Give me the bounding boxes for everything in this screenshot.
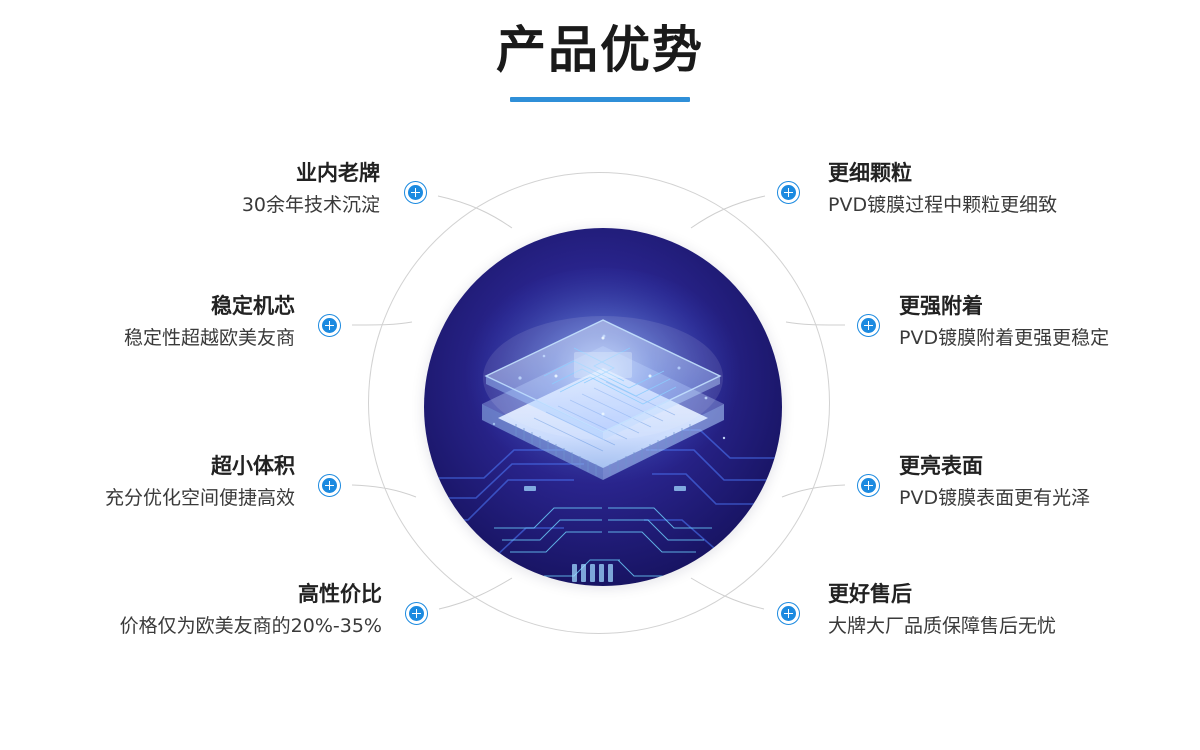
plus-circle-icon-right-1[interactable]	[777, 181, 800, 204]
feature-desc: 充分优化空间便捷高效	[0, 486, 295, 511]
feature-title: 更好售后	[828, 581, 1188, 608]
plus-circle-icon-right-3[interactable]	[857, 474, 880, 497]
page-title-block: 产品优势	[0, 22, 1200, 102]
feature-desc: 30余年技术沉淀	[20, 193, 380, 218]
feature-title: 稳定机芯	[0, 293, 295, 320]
feature-right-3[interactable]: 更亮表面 PVD镀膜表面更有光泽	[899, 453, 1194, 511]
feature-left-2[interactable]: 稳定机芯 稳定性超越欧美友商	[0, 293, 295, 351]
cpu-illustration	[424, 228, 782, 586]
title-underline	[510, 97, 690, 102]
feature-desc: 大牌大厂品质保障售后无忧	[828, 614, 1188, 639]
feature-left-3[interactable]: 超小体积 充分优化空间便捷高效	[0, 453, 295, 511]
feature-desc: 稳定性超越欧美友商	[0, 326, 295, 351]
cpu-circuit-board-photo	[424, 228, 782, 586]
plus-circle-icon-right-2[interactable]	[857, 314, 880, 337]
feature-desc: PVD镀膜过程中颗粒更细致	[828, 193, 1188, 218]
feature-title: 更细颗粒	[828, 160, 1188, 187]
plus-circle-icon-left-2[interactable]	[318, 314, 341, 337]
plus-circle-icon-right-4[interactable]	[777, 602, 800, 625]
feature-desc: PVD镀膜表面更有光泽	[899, 486, 1194, 511]
plus-circle-icon-left-1[interactable]	[404, 181, 427, 204]
plus-circle-icon-left-3[interactable]	[318, 474, 341, 497]
feature-title: 高性价比	[0, 581, 382, 608]
plus-glyph	[409, 606, 424, 621]
plus-glyph	[322, 478, 337, 493]
feature-title: 更强附着	[899, 293, 1194, 320]
plus-glyph	[408, 185, 423, 200]
infographic-stage: 产品优势	[0, 0, 1200, 750]
plus-circle-icon-left-4[interactable]	[405, 602, 428, 625]
feature-title: 业内老牌	[20, 160, 380, 187]
feature-right-2[interactable]: 更强附着 PVD镀膜附着更强更稳定	[899, 293, 1194, 351]
feature-right-4[interactable]: 更好售后 大牌大厂品质保障售后无忧	[828, 581, 1188, 639]
plus-glyph	[781, 185, 796, 200]
plus-glyph	[861, 478, 876, 493]
feature-title: 超小体积	[0, 453, 295, 480]
feature-desc: 价格仅为欧美友商的20%-35%	[0, 614, 382, 639]
feature-title: 更亮表面	[899, 453, 1194, 480]
feature-desc: PVD镀膜附着更强更稳定	[899, 326, 1194, 351]
feature-left-1[interactable]: 业内老牌 30余年技术沉淀	[20, 160, 380, 218]
page-title: 产品优势	[0, 22, 1200, 80]
feature-left-4[interactable]: 高性价比 价格仅为欧美友商的20%-35%	[0, 581, 382, 639]
plus-glyph	[322, 318, 337, 333]
plus-glyph	[861, 318, 876, 333]
plus-glyph	[781, 606, 796, 621]
feature-right-1[interactable]: 更细颗粒 PVD镀膜过程中颗粒更细致	[828, 160, 1188, 218]
